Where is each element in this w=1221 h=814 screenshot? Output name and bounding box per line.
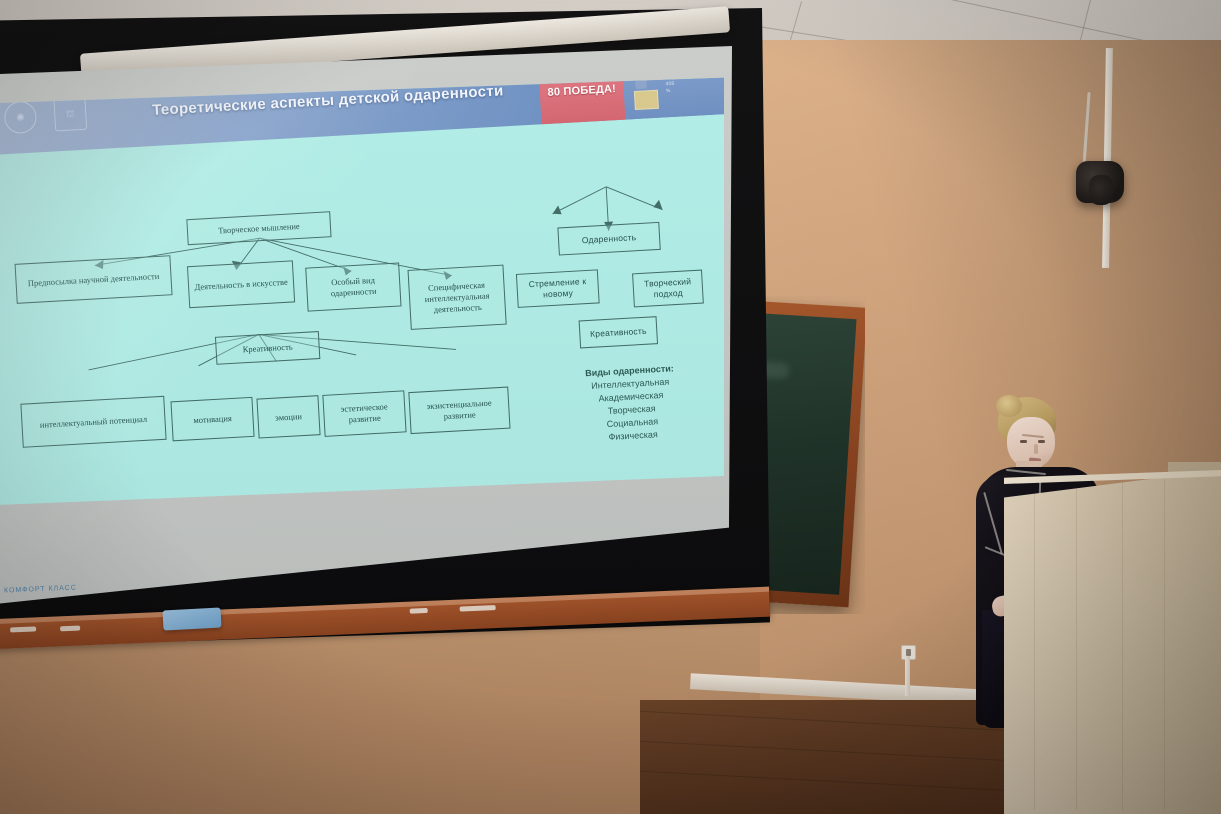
kind-item: Социальная (606, 416, 658, 429)
node-activity-in-art: Деятельность в искусстве (187, 260, 295, 308)
node-giftedness: Одаренность (557, 222, 660, 256)
nose (1034, 444, 1038, 454)
projection-screen: ◉ ⛫ Теоретические аспекты детской одарен… (0, 8, 770, 648)
node-creative-approach: Творческий подход (632, 270, 704, 308)
node-creativity-root: Креативность (215, 331, 320, 365)
cable-conduit (905, 656, 910, 696)
node-creativity-right: Креативность (579, 316, 658, 348)
node-striving-for-new: Стремление к новому (516, 269, 600, 308)
node-special-type-giftedness: Особый вид одаренности (305, 262, 401, 311)
lecture-hall-photo: ◉ ⛫ Теоретические аспекты детской одарен… (0, 0, 1221, 814)
node-motivation: мотивация (170, 397, 254, 442)
eye-left (1020, 440, 1027, 443)
kind-item: Интеллектуальная (591, 377, 670, 391)
podium (1004, 470, 1221, 814)
node-specific-intellectual-activity: Специфическая интеллектуальная деятельно… (408, 265, 507, 330)
node-emotions: эмоции (256, 395, 320, 438)
node-aesthetic-development: эстетическое развитие (322, 390, 406, 437)
eye-right (1038, 440, 1045, 443)
hair-bun (996, 395, 1022, 417)
screen-surface: ◉ ⛫ Теоретические аспекты детской одарен… (0, 46, 732, 606)
node-existential-development: экзистенциальное развитие (408, 387, 510, 435)
speaker-housing (1089, 175, 1113, 205)
kind-item: Физическая (608, 429, 658, 442)
node-intellectual-potential: интеллектуальный потенциал (20, 396, 166, 448)
kinds-of-giftedness-list: Виды одаренности: Интеллектуальная Акаде… (549, 360, 713, 447)
board-eraser-cloth (163, 607, 222, 630)
kind-item: Академическая (598, 390, 663, 404)
kind-item: Творческая (608, 403, 656, 416)
projected-slide: ◉ ⛫ Теоретические аспекты детской одарен… (0, 76, 724, 506)
